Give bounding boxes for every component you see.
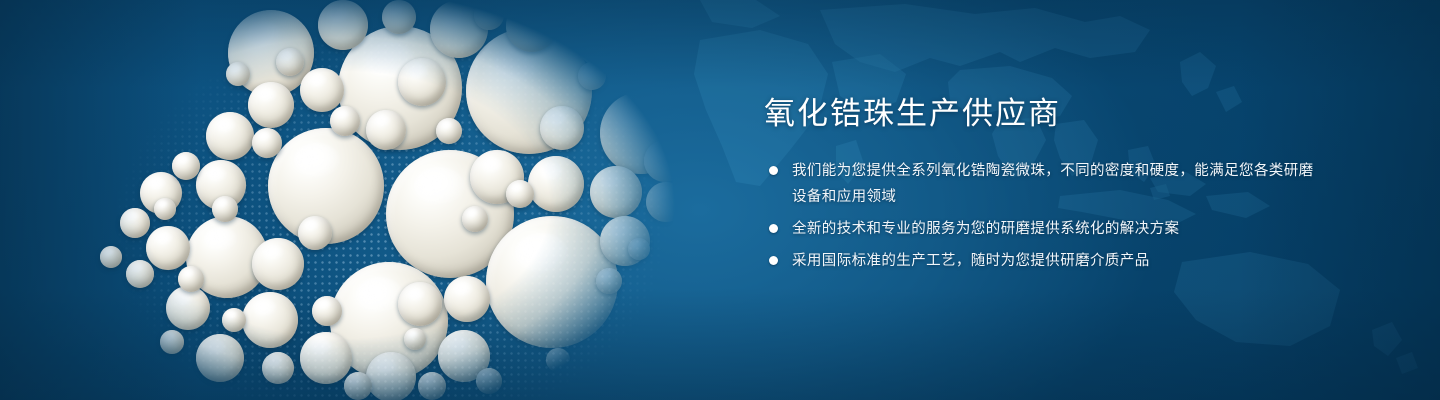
feature-text: 采用国际标准的生产工艺，随时为您提供研磨介质产品: [792, 248, 1320, 274]
list-item: 全新的技术和专业的服务为您的研磨提供系统化的解决方案: [760, 216, 1320, 242]
hero-banner: 氧化锆珠生产供应商 我们能为您提供全系列氧化锆陶瓷微珠，不同的密度和硬度，能满足…: [0, 0, 1440, 400]
list-item: 我们能为您提供全系列氧化锆陶瓷微珠，不同的密度和硬度，能满足您各类研磨设备和应用…: [760, 158, 1320, 210]
banner-content: 氧化锆珠生产供应商 我们能为您提供全系列氧化锆陶瓷微珠，不同的密度和硬度，能满足…: [760, 96, 1320, 274]
bullet-dot-icon: [769, 256, 778, 265]
feature-text: 我们能为您提供全系列氧化锆陶瓷微珠，不同的密度和硬度，能满足您各类研磨设备和应用…: [792, 158, 1320, 210]
page-title: 氧化锆珠生产供应商: [764, 96, 1320, 132]
list-item: 采用国际标准的生产工艺，随时为您提供研磨介质产品: [760, 248, 1320, 274]
feature-text: 全新的技术和专业的服务为您的研磨提供系统化的解决方案: [792, 216, 1320, 242]
feature-list: 我们能为您提供全系列氧化锆陶瓷微珠，不同的密度和硬度，能满足您各类研磨设备和应用…: [760, 158, 1320, 274]
bullet-dot-icon: [769, 224, 778, 233]
bullet-dot-icon: [769, 166, 778, 175]
